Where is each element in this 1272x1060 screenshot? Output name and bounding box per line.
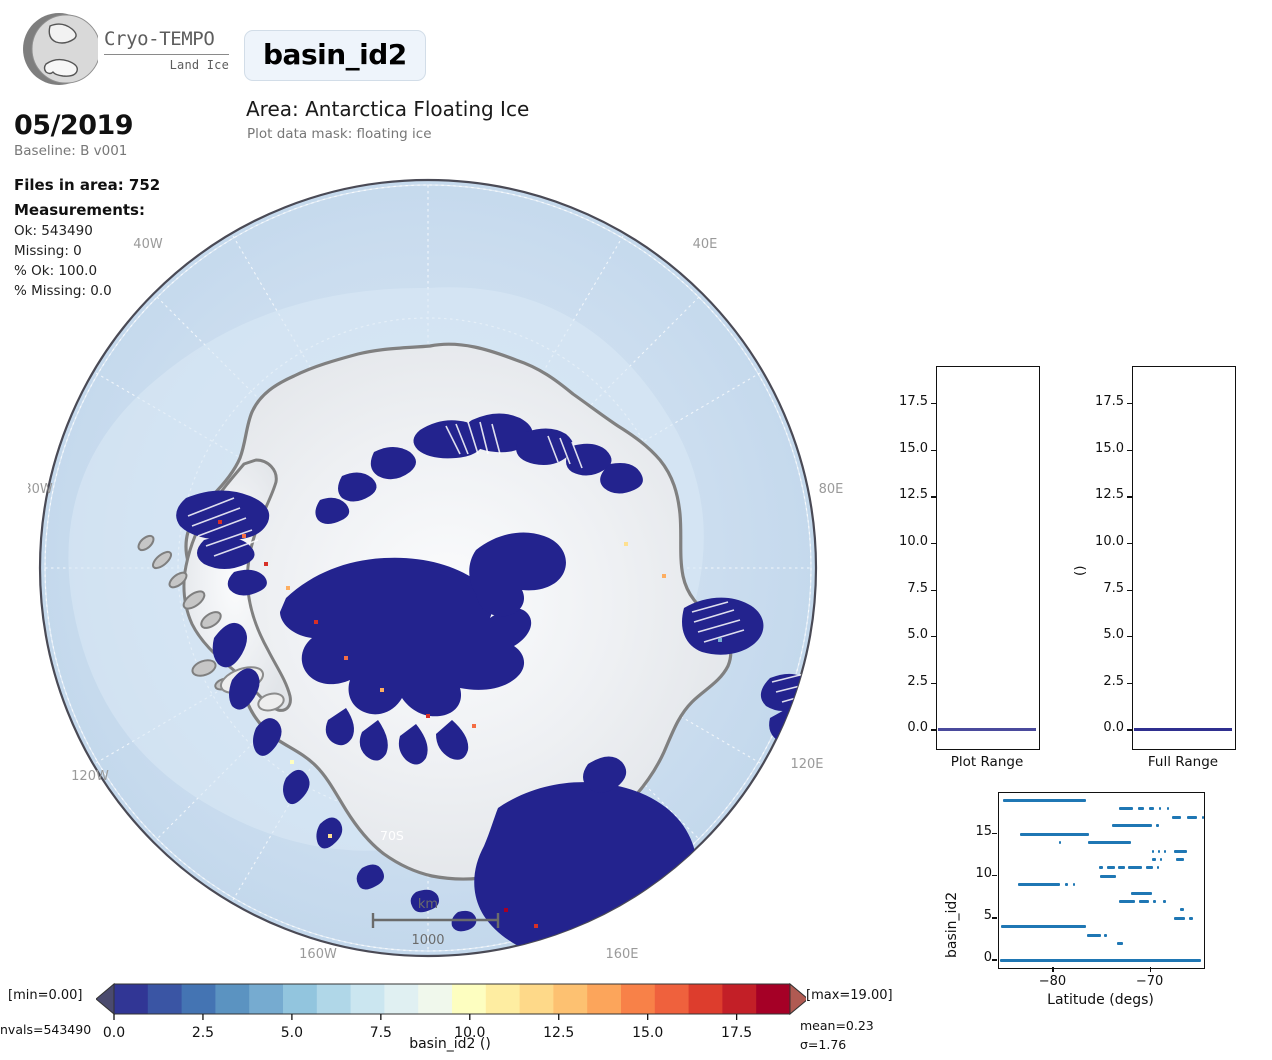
scatter-point-group [1146,866,1154,869]
lon-label-120w: 120W [71,769,109,784]
scatter-xtick-label: −80 [1032,974,1072,989]
scatter-point-group [1156,824,1159,827]
full-range-axes [1132,366,1236,750]
scatter-point-group [1059,841,1061,844]
plot-range-xlabel: Plot Range [936,754,1038,770]
scatter-point-group [1117,942,1124,945]
boxplot-ytick-mark [931,729,936,730]
boxplot-ytick-mark [931,683,936,684]
scatter-point-group [1160,858,1162,861]
basin-vs-latitude-scatter[interactable]: basin_id2 Latitude (degs) 051015−80−70 [908,786,1218,1046]
lat-label-70s: 70S [380,828,404,843]
boxplot-ytick-mark [931,543,936,544]
boxplot-ytick-mark [931,496,936,497]
scatter-point-group [1149,807,1155,810]
plot-range-axes [936,366,1040,750]
scatter-point-group [1000,959,1201,962]
scatter-point-group [1107,866,1115,869]
scatter-xtick-mark [1150,967,1151,972]
boxplot-ytick-mark [931,450,936,451]
colorbar-nvals-label: nvals=543490 [0,1022,91,1037]
lon-label-40e: 40E [693,237,718,252]
scatter-point-group [1119,900,1135,903]
plot-range-boxplot[interactable]: Plot Range 0.02.55.07.510.012.515.017.5 [852,360,1052,760]
boxplot-ytick-mark [1127,683,1132,684]
scatter-ytick-label: 0 [966,950,992,965]
scatter-point-group [1088,841,1131,844]
scale-unit-label: km [418,897,438,912]
boxplot-ytick-label: 7.5 [884,581,928,596]
boxplot-ytick-label: 15.0 [884,441,928,456]
scatter-point-group [1202,816,1204,819]
plot-mask-label: Plot data mask: floating ice [247,126,432,142]
antarctica-map[interactable]: 70S 0E 40E 80E 120E 160E 160W 120W 80W 4… [28,168,848,978]
lon-label-160e: 160E [605,947,638,962]
scatter-point-group [1003,799,1087,802]
colorbar-axis-label: basin_id2 () [0,1036,900,1052]
scatter-point-group [1164,850,1166,853]
scatter-point-group [1112,824,1153,827]
boxplot-ytick-label: 10.0 [1080,534,1124,549]
boxplot-ytick-label: 7.5 [1080,581,1124,596]
scatter-xlabel: Latitude (degs) [998,992,1203,1008]
scatter-point-group [1020,833,1089,836]
plot-range-box-body [938,728,1036,731]
scatter-ytick-mark [992,875,997,876]
colorbar-max-label: [max=19.00] [806,988,893,1003]
lon-label-40w: 40W [133,237,163,252]
lon-label-160w: 160W [299,947,337,962]
scatter-point-group [1087,934,1101,937]
logo-title: Cryo-TEMPO [104,30,229,49]
scatter-point-group [1104,934,1107,937]
scatter-point-group [1100,875,1116,878]
scatter-point-group [1153,900,1157,903]
scatter-point-group [1167,807,1169,810]
boxplot-ytick-label: 17.5 [884,394,928,409]
scatter-point-group [1189,917,1193,920]
scatter-point-group [1065,883,1068,886]
logo-subtitle: Land Ice [104,58,229,72]
scatter-point-group [1128,866,1142,869]
lon-label-80e: 80E [819,482,844,497]
boxplot-ytick-mark [1127,543,1132,544]
scatter-point-group [1174,917,1185,920]
scatter-point-group [1187,816,1198,819]
scatter-point-group [1152,850,1155,853]
boxplot-ytick-label: 12.5 [1080,487,1124,502]
scatter-point-group [1174,850,1187,853]
scatter-point-group [1172,816,1181,819]
boxplot-ytick-mark [1127,403,1132,404]
scatter-xtick-label: −70 [1130,974,1170,989]
logo-divider [104,54,229,55]
scatter-xtick-mark [1052,967,1053,972]
scatter-point-group [1131,892,1152,895]
boxplot-ytick-label: 0.0 [1080,720,1124,735]
scatter-point-group [1159,807,1161,810]
full-range-xlabel: Full Range [1132,754,1234,770]
scatter-point-group [1163,900,1166,903]
boxplot-ytick-mark [1127,590,1132,591]
scatter-ytick-mark [992,833,997,834]
lon-label-80w: 80W [28,482,53,497]
scatter-point-group [1158,850,1160,853]
boxplot-ytick-mark [931,636,936,637]
boxplot-ytick-label: 15.0 [1080,441,1124,456]
boxplot-ytick-mark [1127,636,1132,637]
colorbar-gradient[interactable]: 0.02.55.07.510.012.515.017.5 [96,980,806,1042]
scatter-point-group [1157,866,1159,869]
scatter-point-group [1001,925,1086,928]
scatter-point-group [1099,866,1103,869]
boxplot-ytick-label: 2.5 [1080,674,1124,689]
scale-value-label: 1000 [411,933,444,948]
boxplot-ytick-label: 10.0 [884,534,928,549]
scatter-point-group [1139,900,1149,903]
scatter-point-group [1152,858,1157,861]
boxplot-ytick-label: 5.0 [1080,627,1124,642]
colorbar-mean-label: mean=0.23 [800,1018,874,1033]
globe-antarctica-icon [20,10,98,88]
lon-label-120e: 120E [790,757,823,772]
scatter-point-group [1073,883,1075,886]
boxplot-ytick-mark [1127,729,1132,730]
boxplot-ytick-label: 12.5 [884,487,928,502]
date-label: 05/2019 [14,112,234,140]
scatter-ytick-label: 5 [966,908,992,923]
app-logo: Cryo-TEMPO Land Ice [14,8,229,94]
baseline-label: Baseline: B v001 [14,143,234,159]
scatter-ytick-label: 15 [966,824,992,839]
boxplot-ytick-label: 0.0 [884,720,928,735]
boxplot-ytick-mark [931,403,936,404]
scatter-point-group [1119,807,1133,810]
scatter-point-group [1176,858,1184,861]
boxplot-ytick-label: 2.5 [884,674,928,689]
scatter-ytick-label: 10 [966,866,992,881]
area-title: Area: Antarctica Floating Ice [246,97,529,121]
scatter-point-group [1118,866,1126,869]
boxplot-ytick-mark [931,590,936,591]
full-range-boxplot[interactable]: Full Range () 0.02.55.07.510.012.515.017… [1048,360,1248,760]
full-range-ylabel: () [1072,565,1088,576]
scatter-ylabel: basin_id2 [944,892,960,958]
scatter-point-group [1180,908,1184,911]
boxplot-ytick-mark [1127,450,1132,451]
boxplot-ytick-label: 17.5 [1080,394,1124,409]
variable-badge[interactable]: basin_id2 [244,30,426,81]
full-range-box-body [1134,728,1232,731]
scatter-ytick-mark [992,959,997,960]
colorbar-min-label: [min=0.00] [8,988,83,1003]
scatter-plot-area [998,792,1205,969]
scatter-point-group [1138,807,1144,810]
scatter-ytick-mark [992,917,997,918]
scatter-point-group [1018,883,1060,886]
boxplot-ytick-label: 5.0 [884,627,928,642]
boxplot-ytick-mark [1127,496,1132,497]
